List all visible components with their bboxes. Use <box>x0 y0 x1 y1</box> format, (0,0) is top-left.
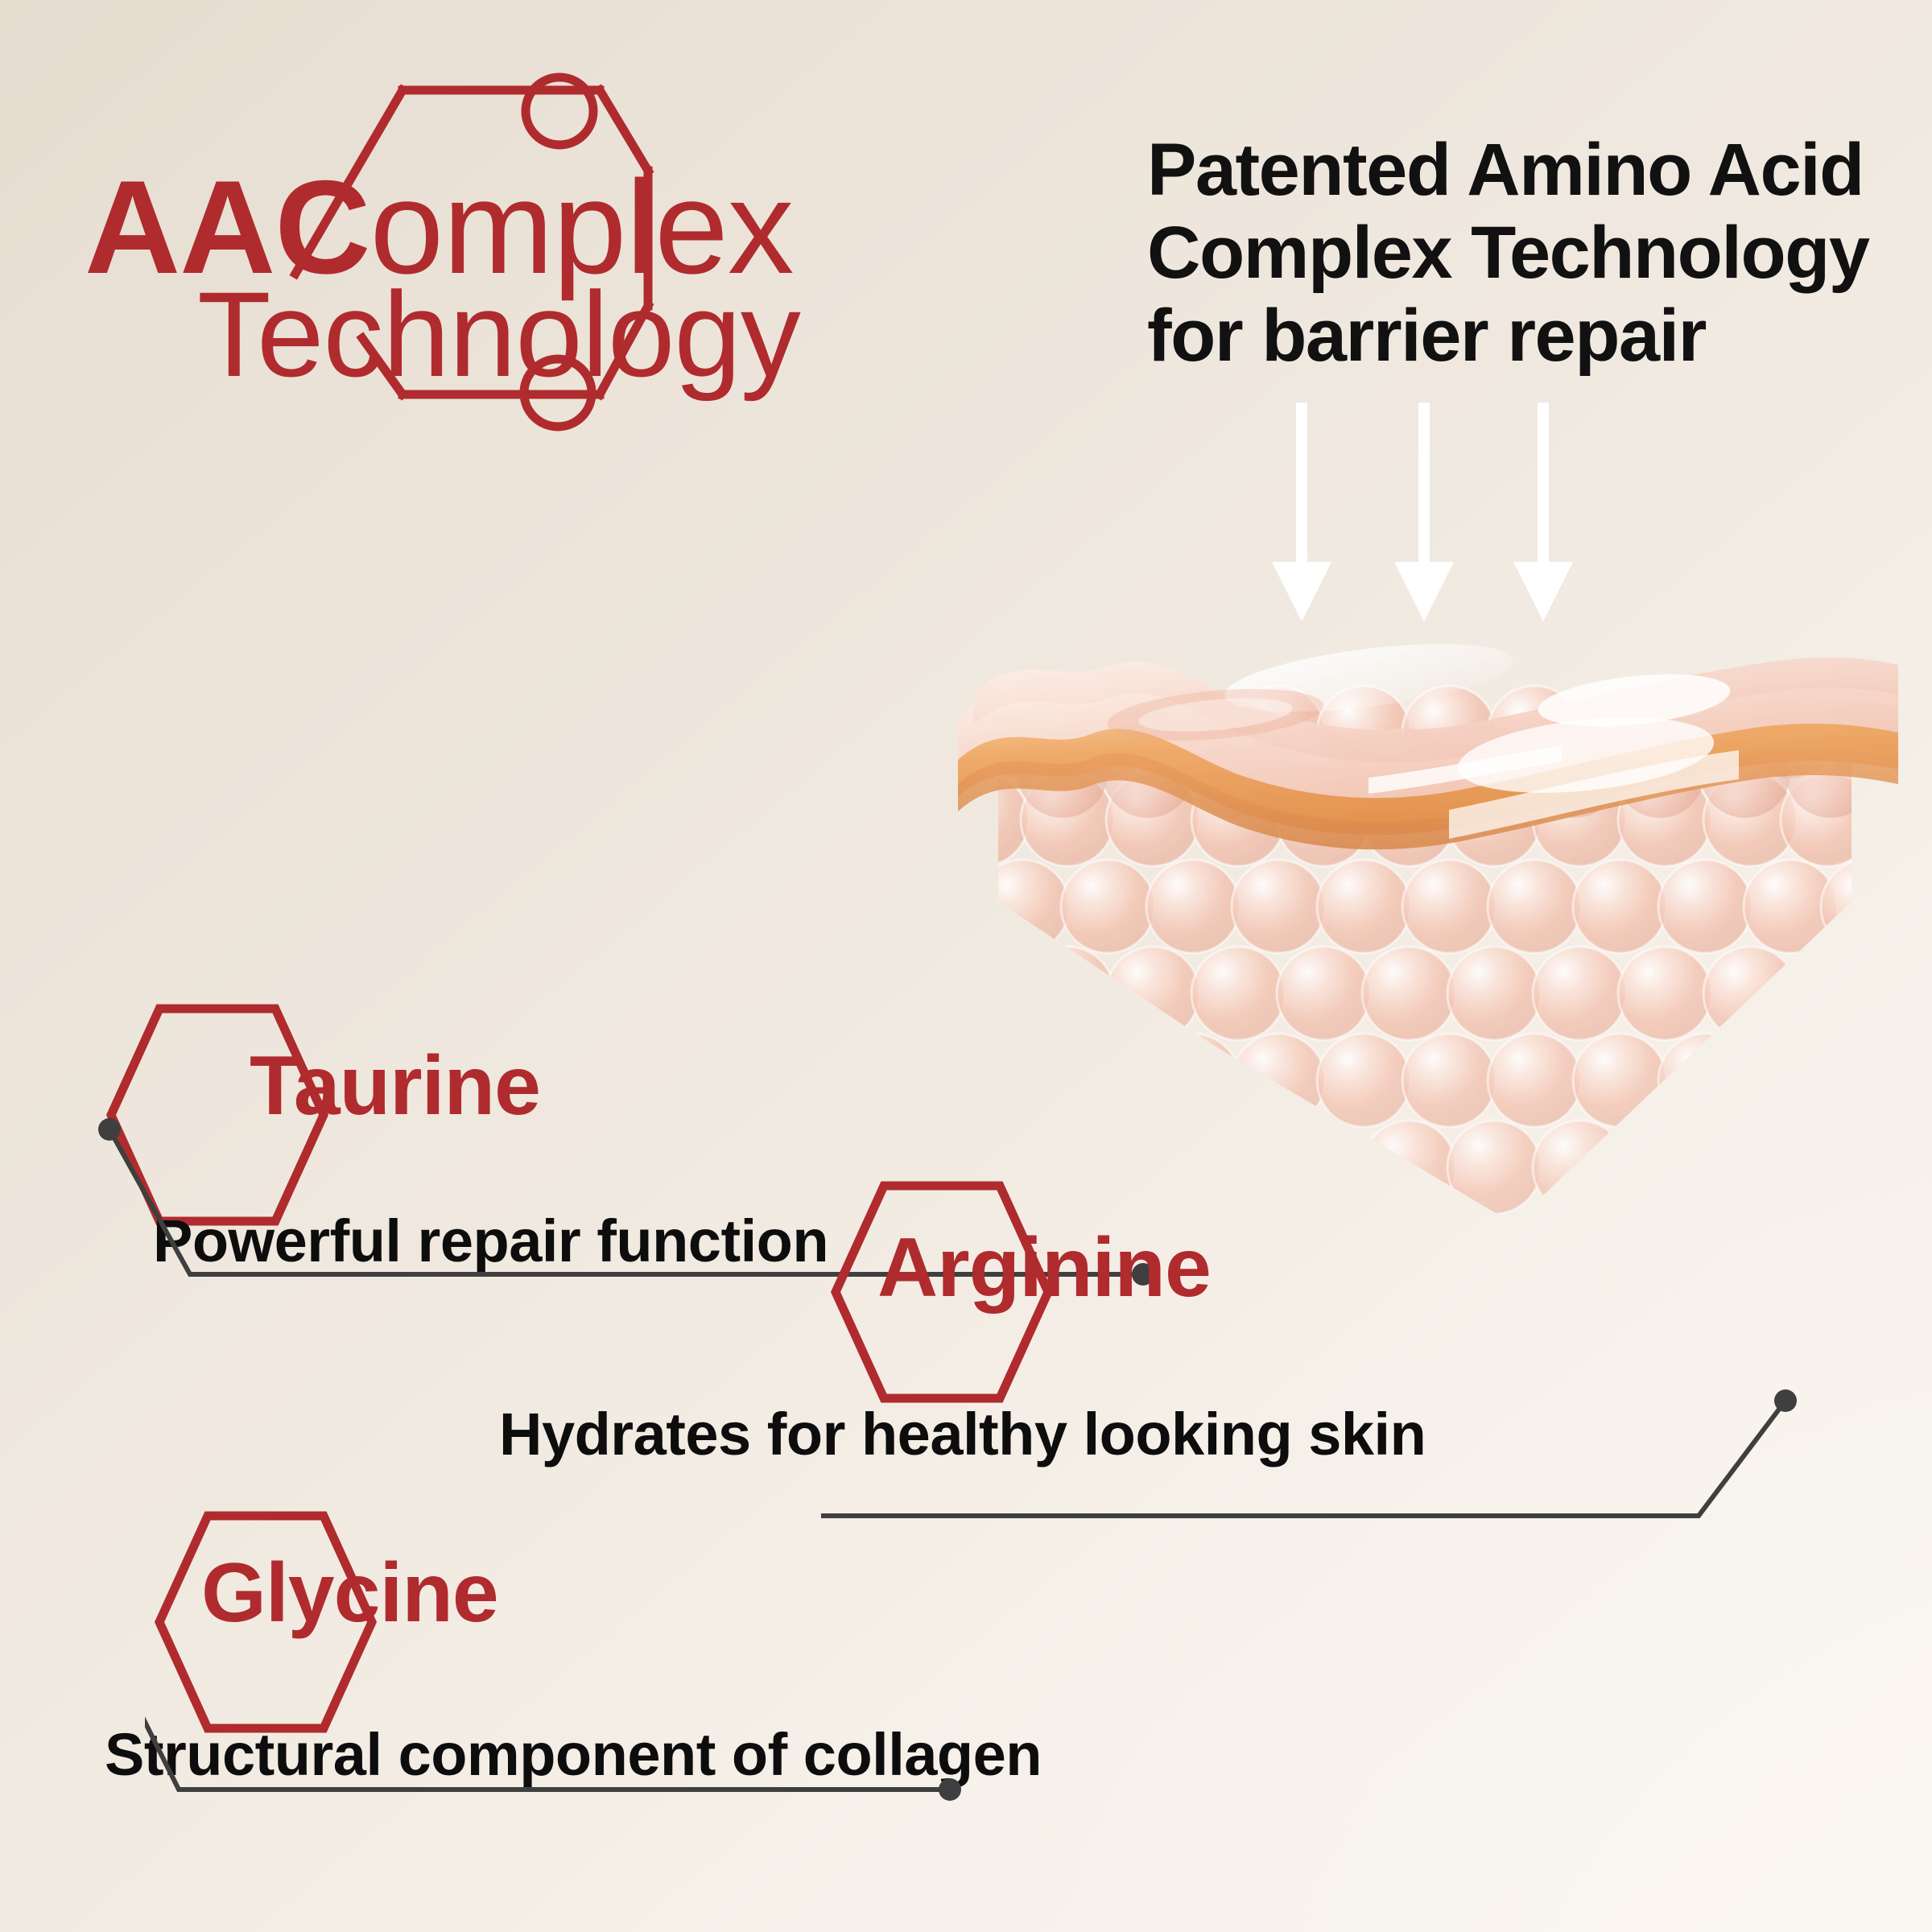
infographic-canvas: AAComplex Technology Patented Amino Acid… <box>0 0 1932 1932</box>
headline-line-3: for barrier repair <box>1147 295 1872 378</box>
leader-line <box>821 1171 1868 1550</box>
headline-line-1: Patented Amino Acid <box>1147 129 1872 212</box>
absorption-arrows-icon <box>1272 402 1642 636</box>
aac-logo: AAComplex Technology <box>85 72 994 459</box>
leader-line <box>145 1501 1207 1847</box>
logo-technology: Technology <box>197 274 800 394</box>
ingredient-glycine[interactable]: Glycine Structural component of collagen <box>145 1501 1207 1847</box>
ingredient-arginine[interactable]: Arginine Hydrates for healthy looking sk… <box>821 1171 1868 1550</box>
page-title: Patented Amino Acid Complex Technology f… <box>1147 129 1872 378</box>
headline-line-2: Complex Technology <box>1147 212 1872 295</box>
